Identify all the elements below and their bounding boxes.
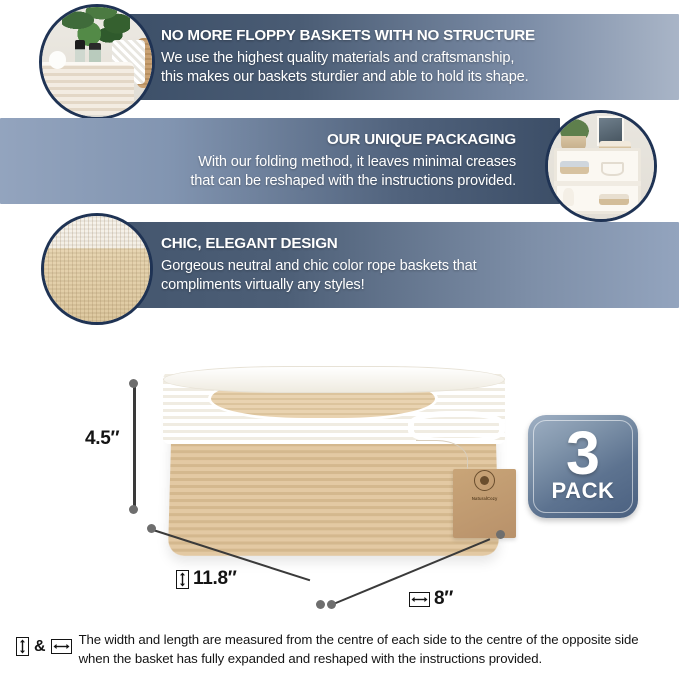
feature-banner-no-floppy-baskets: NO MORE FLOPPY BASKETS WITH NO STRUCTURE… (118, 14, 679, 100)
disclaimer-icon-group: & (16, 631, 72, 656)
width-dimension-dot-right (496, 530, 505, 539)
disclaimer-line-1: The width and length are measured from t… (79, 631, 639, 650)
height-dimension-dot-top (129, 379, 138, 388)
pack-quantity-word: PACK (551, 480, 614, 502)
banner-title: OUR UNIQUE PACKAGING (327, 131, 516, 148)
white-rope-basket (39, 62, 134, 115)
cotton-ball (49, 51, 67, 69)
width-dimension-label: 8″ (409, 588, 453, 610)
ampersand-separator: & (34, 638, 46, 656)
banner-title: NO MORE FLOPPY BASKETS WITH NO STRUCTURE (161, 27, 535, 44)
rope-weave-overlay (44, 216, 150, 322)
banner-title: CHIC, ELEGANT DESIGN (161, 235, 338, 252)
length-dimension-dot-right (316, 600, 325, 609)
banner-body-line-2: compliments virtually any styles! (161, 276, 364, 295)
brand-hang-tag: NaturalCozy (453, 469, 516, 539)
decorative-vase (563, 188, 575, 206)
horizontal-arrow-icon (409, 592, 430, 607)
banner-text-block: NO MORE FLOPPY BASKETS WITH NO STRUCTURE… (161, 14, 669, 100)
vertical-arrow-icon (176, 570, 189, 589)
length-dimension-dot-left (147, 524, 156, 533)
banner-body-line-2: that can be reshaped with the instructio… (190, 172, 516, 191)
ceramic-bowl (601, 162, 624, 176)
vertical-arrow-icon (16, 637, 29, 656)
banner-body-line-1: We use the highest quality materials and… (161, 49, 514, 68)
horizontal-arrow-icon (51, 639, 72, 654)
shelf-divider (554, 181, 641, 186)
width-dimension-value: 8″ (434, 588, 453, 610)
disclaimer-text: The width and length are measured from t… (79, 631, 639, 668)
brand-logo-icon (474, 470, 495, 491)
length-dimension-value: 11.8″ (193, 568, 237, 590)
height-dimension-label: 4.5″ (85, 428, 119, 450)
banner-text-block: CHIC, ELEGANT DESIGN Gorgeous neutral an… (161, 222, 669, 308)
product-photo-basket: NaturalCozy (148, 362, 520, 567)
pack-quantity-number: 3 (566, 427, 600, 479)
pack-quantity-badge: 3 PACK (528, 415, 638, 518)
height-dimension-value: 4.5″ (85, 428, 119, 450)
shelf-basket-middle (560, 161, 590, 175)
feature-image-bathroom-basket (39, 4, 155, 120)
banner-body-line-1: Gorgeous neutral and chic color rope bas… (161, 257, 477, 276)
measurement-disclaimer: & The width and length are measured from… (16, 631, 666, 668)
shelf-basket-bottom (599, 194, 629, 206)
height-dimension-dot-bottom (129, 505, 138, 514)
banner-body-line-2: this makes our baskets sturdier and able… (161, 68, 529, 87)
width-dimension-dot-left (327, 600, 336, 609)
basket-rim (163, 366, 505, 393)
brand-name: NaturalCozy (472, 496, 498, 501)
infographic-page: NO MORE FLOPPY BASKETS WITH NO STRUCTURE… (0, 0, 679, 673)
banner-body-line-1: With our folding method, it leaves minim… (198, 153, 516, 172)
disclaimer-line-2: when the basket has fully expanded and r… (79, 650, 639, 669)
height-dimension-line (133, 386, 136, 510)
banner-text-block: OUR UNIQUE PACKAGING With our folding me… (10, 118, 516, 204)
feature-image-shelf-with-baskets (545, 110, 657, 222)
length-dimension-label: 11.8″ (176, 568, 237, 590)
feature-image-rope-texture (41, 213, 153, 325)
feature-banner-unique-packaging: OUR UNIQUE PACKAGING With our folding me… (0, 118, 560, 204)
feature-banner-chic-elegant-design: CHIC, ELEGANT DESIGN Gorgeous neutral an… (118, 222, 679, 308)
